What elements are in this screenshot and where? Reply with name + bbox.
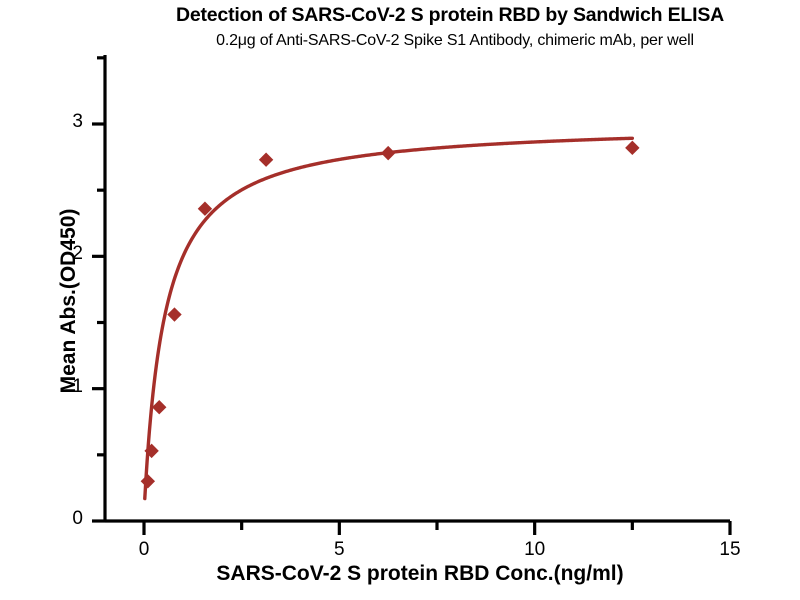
y-tick-label: 1 — [43, 376, 83, 398]
data-markers — [141, 141, 640, 489]
plot-area — [0, 0, 800, 600]
x-tick-label: 10 — [510, 539, 560, 561]
x-tick-label: 15 — [705, 539, 755, 561]
x-tick-label: 0 — [119, 539, 169, 561]
y-tick-label: 2 — [43, 243, 83, 265]
y-tick-label: 3 — [43, 111, 83, 133]
axis-ticks — [92, 58, 730, 535]
x-tick-label: 5 — [314, 539, 364, 561]
axis-spines — [105, 55, 730, 521]
y-tick-label: 0 — [43, 508, 83, 530]
fitted-curve — [145, 138, 633, 498]
elisa-chart-figure: Detection of SARS-CoV-2 S protein RBD by… — [0, 0, 800, 600]
